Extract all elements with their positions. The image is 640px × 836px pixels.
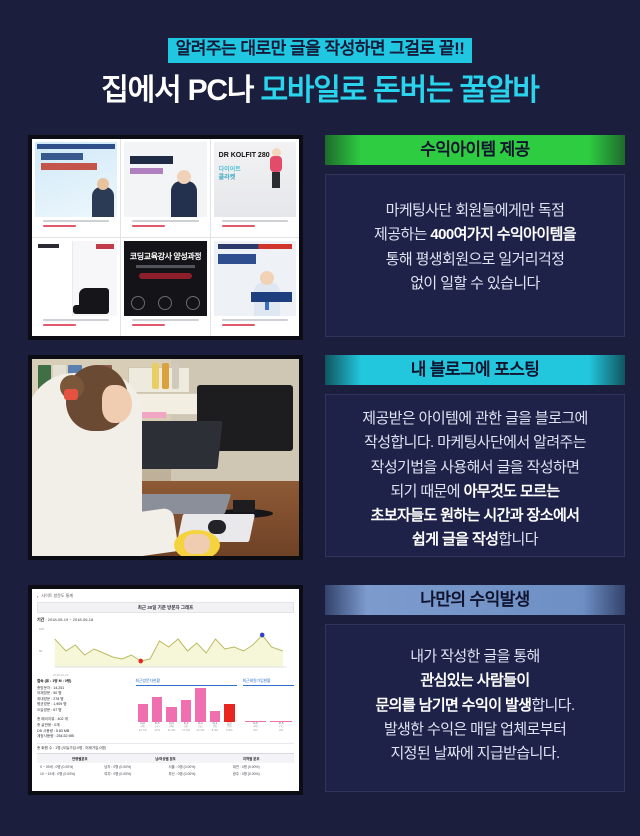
collage-cell-diet-product: DR KOLFIT 280 다이어트 콜라켓: [211, 139, 299, 237]
table-header-cell: 지역별 분포: [208, 754, 294, 763]
body-text: 합니다.: [531, 697, 574, 714]
copy-income-items: 수익아이템 제공 마케팅사단 회원들에게만 독점 제공하는 400여가지 수익아…: [325, 135, 625, 345]
bar-chart-plot: [136, 688, 237, 722]
collage-cell-coding-course: 코딩교육강사 양성과정: [121, 238, 210, 336]
section-bar-income-generation: 나만의 수익발생: [325, 585, 625, 615]
stat-value: 14,251: [53, 686, 64, 690]
blog-analytics-dashboard: ▪ 사이트 방문도 통계 최근 30일 기준 방문자 그래프 기간 : 2018…: [32, 589, 299, 791]
section-blog-posting: 내 블로그에 포스팅 제공받은 아이템에 관한 글을 블로그에 작성합니다. 마…: [0, 355, 640, 565]
body-line: 제공하는 400여가지 수익아이템을: [336, 223, 614, 247]
panel-woman-at-desk-photo: [28, 355, 303, 560]
coding-course-title: 코딩교육강사 양성과정: [130, 251, 201, 262]
stat-value: 1,909 명: [53, 702, 66, 706]
header-eyebrow: 알려주는 대로만 글을 작성하면 그걸로 끝!!: [168, 38, 473, 63]
stat-label: DB 사용량: [37, 729, 53, 733]
stat-label: 평균방문: [37, 702, 50, 706]
table-cell: 부산 : 0명 (0.00%): [166, 770, 230, 777]
bar-axis-tick: 오늘(월)9.3%: [224, 722, 234, 732]
thumb-caption: [124, 316, 206, 333]
body-line: 발생한 수익은 매달 업체로부터: [336, 718, 614, 742]
thumb-caption: [214, 217, 296, 234]
section-body-blog-posting: 제공받은 아이템에 관한 글을 블로그에 작성합니다. 마케팅사단에서 알려주는…: [325, 394, 625, 557]
bar-today: [224, 704, 234, 722]
stat-label: 어제방문: [37, 691, 50, 695]
stat-value: 278 명: [53, 697, 63, 701]
stat-value: 0개: [54, 723, 59, 727]
bar-axis-tick: D-6(화)0%: [245, 722, 267, 732]
period-value: 2018-05-19 ~ 2018-06-18: [48, 617, 93, 622]
body-line: 지정된 날짜에 지급받습니다.: [336, 742, 614, 766]
collage-row-1: DR KOLFIT 280 다이어트 콜라켓: [32, 139, 299, 238]
body-line: 쉽게 글을 작성합니다: [336, 528, 614, 552]
section-income-generation: ▪ 사이트 방문도 통계 최근 30일 기준 방문자 그래프 기간 : 2018…: [0, 585, 640, 800]
bar: [181, 700, 191, 722]
body-line: 마케팅사단 회원들에게만 독점: [336, 199, 614, 223]
dashboard-middle: 접속 (유 : 1명 M : 0명) 총방문자 : 14,251 어제방문 : …: [37, 679, 294, 740]
personal-rehab-thumb: [214, 241, 296, 316]
diet-product-thumb: DR KOLFIT 280 다이어트 콜라켓: [214, 142, 296, 217]
stat-value: 50 명: [53, 691, 61, 695]
section-body-income-generation: 내가 작성한 글을 통해 관심있는 사람들이 문의를 남기면 수익이 발생합니다…: [325, 624, 625, 792]
y-axis-max: 100: [39, 627, 44, 631]
collage-cell-massage-chair: [32, 238, 121, 336]
table-header-cell: 남/여성별 분포: [123, 754, 209, 763]
bar-chart2-plot: [243, 688, 294, 722]
body-emphasis: 아무것도 모르는: [464, 483, 560, 500]
collage-row-2: 코딩교육강사 양성과정: [32, 238, 299, 336]
body-emphasis: 문의를 남기면 수익이 발생: [375, 697, 531, 714]
computer-mouse: [208, 520, 226, 534]
table-cell: 서울 : 0명 (0.00%): [166, 763, 230, 770]
visitors-line-chart: 100 50 2018-05-19: [37, 625, 294, 677]
body-line: 내가 작성한 글을 통해: [336, 645, 614, 669]
panel-blog-analytics-dashboard: ▪ 사이트 방문도 통계 최근 30일 기준 방문자 그래프 기간 : 2018…: [28, 585, 303, 795]
stat-label: 총방문자: [37, 686, 50, 690]
table-header-cell: 연령별분포: [37, 754, 123, 763]
body-text: 되기 때문에: [390, 483, 463, 500]
thumb-caption: [35, 217, 117, 234]
stat-label: 총 페이지뷰: [37, 717, 55, 721]
chart-period: 기간 : 2018-05-19 ~ 2018-06-18: [37, 617, 294, 623]
thumb-caption: [124, 217, 206, 234]
woman-at-desk-photo: [32, 359, 299, 556]
bar: [195, 688, 205, 722]
stat-row: 계정사용량 : 254.52 MB: [37, 734, 130, 740]
table-row: 10 ~ 19세 : 0명 (0.00%) 여자 : 0명 (0.00%) 부산…: [37, 770, 294, 777]
body-line: 통해 평생회원으로 일거리걱정: [336, 248, 614, 272]
recent-visitors-bar-chart: 최근방문자현황 D-6(화)12.7% D-5(수)17: [136, 679, 237, 740]
thumbnail-collage: DR KOLFIT 280 다이어트 콜라켓: [32, 139, 299, 336]
stat-label: 오늘방문: [37, 708, 50, 712]
body-line: 없이 일할 수 있습니다: [336, 272, 614, 296]
y-axis-mid: 50: [39, 649, 42, 653]
page-title-part-white: 집에서 PC나: [101, 74, 260, 107]
body-line: 초보자들도 원하는 시간과 장소에서: [336, 504, 614, 528]
table-cell: 남자 : 0명 (0.00%): [101, 763, 165, 770]
x-axis-label: 2018-05-19: [53, 673, 68, 677]
body-emphasis: 쉽게 글을 작성: [412, 531, 498, 548]
diet-line-2: 콜라켓: [219, 172, 236, 181]
body-line: 문의를 남기면 수익이 발생합니다.: [336, 694, 614, 718]
chart-title: 최근 30일 기준 방문자 그래프: [37, 602, 294, 613]
wedding-expo-thumb: [35, 142, 117, 217]
bar-axis-tick: D-2(토)22.3%: [195, 722, 205, 732]
table-cell: 광주 : 0명 (0.00%): [230, 770, 294, 777]
bar-axis-tick: D-5(수)0%: [270, 722, 292, 732]
stat-value: 5.83 MB: [56, 729, 69, 733]
chart-svg: [51, 625, 294, 671]
stats-header: 접속 (유 : 1명 M : 0명): [37, 679, 130, 685]
members-note: 총 회원 수 : 1명 (오늘가입:0명 , 어제가입:0명): [37, 743, 294, 751]
copy-blog-posting: 내 블로그에 포스팅 제공받은 아이템에 관한 글을 블로그에 작성합니다. 마…: [325, 355, 625, 565]
stat-value: 402 개: [58, 717, 68, 721]
beauty-clinic-thumb: [124, 142, 206, 217]
thumb-caption: [35, 316, 117, 333]
bar-axis-tick: D-3(금)17.3%: [181, 722, 191, 732]
body-emphasis: 400여가지 수익아이템을: [430, 226, 576, 243]
body-line: 관심있는 사람들이: [336, 669, 614, 693]
thumb-caption: [214, 316, 296, 333]
table-cell: 10 ~ 19세 : 0명 (0.00%): [37, 770, 101, 777]
table-cell: 대전 : 0명 (0.00%): [230, 763, 294, 770]
body-line: 작성기법을 사용해서 글을 작성하면: [336, 456, 614, 480]
body-text: 합니다: [498, 531, 538, 548]
landing-page: 알려주는 대로만 글을 작성하면 그걸로 끝!! 집에서 PC나 모바일로 돈버…: [0, 0, 640, 836]
bar-axis-tick: D-6(화)12.7%: [138, 722, 148, 732]
bar: [152, 697, 162, 722]
recent-signups-bar-chart: 최근회원가입현황 D-6(화)0% D-5(수)0%: [243, 679, 294, 740]
period-label: 기간: [37, 617, 44, 622]
massage-chair-thumb: [35, 241, 117, 316]
breadcrumb-label: 사이트 방문도 통계: [41, 593, 73, 599]
body-line: 되기 때문에 아무것도 모르는: [336, 480, 614, 504]
stat-value: 67 명: [53, 708, 61, 712]
collage-cell-personal-rehab: [211, 238, 299, 336]
bullet-icon: ▪: [37, 594, 38, 599]
table-header-row: 연령별분포 남/여성별 분포 지역별 분포: [37, 754, 294, 763]
bar-chart2-axis: D-6(화)0% D-5(수)0%: [243, 722, 294, 732]
collage-cell-beauty-clinic: [121, 139, 210, 237]
distribution-table: 연령별분포 남/여성별 분포 지역별 분포 0 ~ 09세 : 0명 (0.00…: [37, 753, 294, 777]
body-line: 작성합니다. 마케팅사단에서 알려주는: [336, 431, 614, 455]
page-header: 알려주는 대로만 글을 작성하면 그걸로 끝!! 집에서 PC나 모바일로 돈버…: [0, 0, 640, 108]
stat-value: 254.52 MB: [57, 734, 74, 738]
section-bar-income-items: 수익아이템 제공: [325, 135, 625, 165]
bar: [166, 707, 176, 722]
stat-label: 총 글반응: [37, 723, 51, 727]
body-emphasis: 관심있는 사람들이: [420, 672, 529, 689]
bar-axis-tick: D-4(목)11.4%: [166, 722, 176, 732]
coding-course-thumb: 코딩교육강사 양성과정: [124, 241, 206, 316]
copy-income-generation: 나만의 수익발생 내가 작성한 글을 통해 관심있는 사람들이 문의를 남기면 …: [325, 585, 625, 800]
section-body-income-items: 마케팅사단 회원들에게만 독점 제공하는 400여가지 수익아이템을 통해 평생…: [325, 174, 625, 337]
stats-summary: 접속 (유 : 1명 M : 0명) 총방문자 : 14,251 어제방문 : …: [37, 679, 130, 740]
body-text: 제공하는: [374, 226, 430, 243]
stat-label: 최대방문: [37, 697, 50, 701]
bar: [138, 704, 148, 722]
page-title-part-cyan: 모바일로 돈버는 꿀알바: [260, 74, 538, 107]
section-bar-blog-posting: 내 블로그에 포스팅: [325, 355, 625, 385]
bar-axis-tick: D-5(수)17%: [152, 722, 162, 732]
page-title: 집에서 PC나 모바일로 돈버는 꿀알바: [0, 74, 640, 109]
stat-label: 계정사용량: [37, 734, 54, 738]
bar-chart-title: 최근방문자현황: [136, 679, 237, 686]
body-emphasis: 초보자들도 원하는 시간과 장소에서: [371, 507, 580, 524]
table-cell: 여자 : 0명 (0.00%): [101, 770, 165, 777]
panel-blog-thumbnail-collage: DR KOLFIT 280 다이어트 콜라켓: [28, 135, 303, 340]
table-cell: 0 ~ 09세 : 0명 (0.00%): [37, 763, 101, 770]
section-income-items: DR KOLFIT 280 다이어트 콜라켓: [0, 135, 640, 345]
diet-brand-label: DR KOLFIT 280: [219, 152, 270, 159]
bar-chart2-title: 최근회원가입현황: [243, 679, 294, 686]
table-row: 0 ~ 09세 : 0명 (0.00%) 남자 : 0명 (0.00%) 서울 …: [37, 763, 294, 770]
bar-axis-tick: D-1(일)8.4%: [210, 722, 220, 732]
collage-cell-wedding-expo: [32, 139, 121, 237]
bar-chart-axis: D-6(화)12.7% D-5(수)17% D-4(목)11.4% D-3(금)…: [136, 722, 237, 732]
body-line: 제공받은 아이템에 관한 글을 블로그에: [336, 407, 614, 431]
dashboard-breadcrumb: ▪ 사이트 방문도 통계: [37, 593, 294, 599]
